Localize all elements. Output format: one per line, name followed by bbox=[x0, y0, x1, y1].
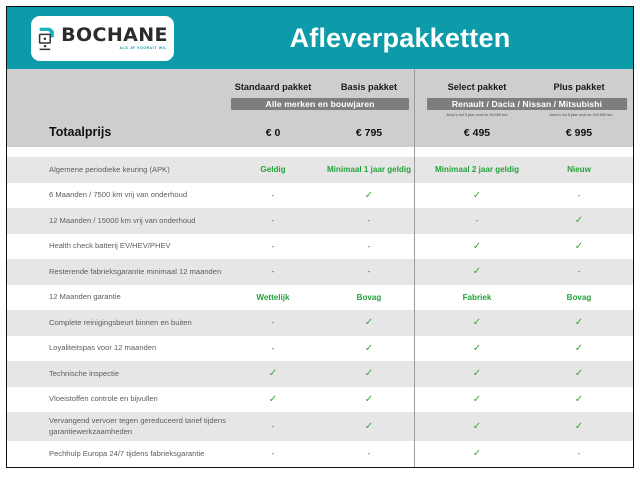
cell-plus: ✓ bbox=[529, 215, 629, 226]
group-pill-all-brands: Alle merken en bouwjaren bbox=[231, 98, 409, 110]
cell-select: ✓ bbox=[425, 394, 529, 405]
cell-select: Minimaal 2 jaar geldig bbox=[425, 165, 529, 174]
price-basis: € 795 bbox=[323, 127, 415, 139]
cell-standaard: - bbox=[223, 318, 323, 327]
row-label: 6 Maanden / 7500 km vrij van onderhoud bbox=[49, 190, 187, 201]
cell-select: ✓ bbox=[425, 343, 529, 354]
column-header-standaard: Standaard pakket bbox=[223, 82, 323, 92]
group-pill-renault-group: Renault / Dacia / Nissan / Mitsubishi bbox=[427, 98, 627, 110]
cell-plus: - bbox=[529, 191, 629, 200]
cell-standaard: - bbox=[223, 449, 323, 458]
row-label: Complete reinigingsbeurt binnen en buite… bbox=[49, 318, 192, 329]
cell-basis: ✓ bbox=[323, 368, 415, 379]
cell-standaard: - bbox=[223, 344, 323, 353]
cell-basis: Minimaal 1 jaar geldig bbox=[323, 165, 415, 174]
cell-standaard: - bbox=[223, 216, 323, 225]
row-label: 12 Maanden garantie bbox=[49, 292, 121, 303]
cell-plus: Bovag bbox=[529, 293, 629, 302]
cell-basis: ✓ bbox=[323, 343, 415, 354]
cell-plus: ✓ bbox=[529, 241, 629, 252]
cell-plus: - bbox=[529, 267, 629, 276]
cell-standaard: Geldig bbox=[223, 165, 323, 174]
cell-select: ✓ bbox=[425, 421, 529, 432]
row-label: Resterende fabrieksgarantie minimaal 12 … bbox=[49, 267, 221, 278]
cell-standaard: - bbox=[223, 242, 323, 251]
column-header-select: Select pakket bbox=[425, 82, 529, 92]
table-row: 12 Maanden / 15000 km vrij van onderhoud… bbox=[7, 208, 633, 234]
comparison-panel: BOCHANE ALS JE VOORUIT WIL Afleverpakket… bbox=[6, 6, 634, 468]
bochane-mark-icon bbox=[37, 26, 56, 51]
cell-select: ✓ bbox=[425, 368, 529, 379]
cell-standaard: - bbox=[223, 267, 323, 276]
row-label: Loyaliteitspas voor 12 maanden bbox=[49, 343, 156, 354]
cell-standaard: Wettelijk bbox=[223, 293, 323, 302]
cell-select: ✓ bbox=[425, 241, 529, 252]
cell-plus: - bbox=[529, 449, 629, 458]
row-label: Pechhulp Europa 24/7 tijdens fabrieksgar… bbox=[49, 449, 204, 460]
column-header-inner: Standaard pakket Basis pakket Select pak… bbox=[7, 69, 633, 147]
row-label: Vloeistoffen controle en bijvullen bbox=[49, 394, 158, 405]
cell-plus: ✓ bbox=[529, 317, 629, 328]
cell-select: ✓ bbox=[425, 448, 529, 459]
price-standaard: € 0 bbox=[223, 127, 323, 139]
table-row: Resterende fabrieksgarantie minimaal 12 … bbox=[7, 259, 633, 285]
cell-standaard: ✓ bbox=[223, 394, 323, 405]
column-header-plus: Plus pakket bbox=[529, 82, 629, 92]
cell-plus: ✓ bbox=[529, 343, 629, 354]
brand-tagline: ALS JE VOORUIT WIL bbox=[120, 47, 167, 51]
table-row: Vloeistoffen controle en bijvullen✓✓✓✓ bbox=[7, 387, 633, 413]
table-top-spacer bbox=[7, 147, 633, 157]
cell-select: ✓ bbox=[425, 317, 529, 328]
table-row: Complete reinigingsbeurt binnen en buite… bbox=[7, 310, 633, 336]
cell-select: ✓ bbox=[425, 266, 529, 277]
cell-plus: ✓ bbox=[529, 368, 629, 379]
cell-standaard: - bbox=[223, 422, 323, 431]
table-row: 6 Maanden / 7500 km vrij van onderhoud-✓… bbox=[7, 183, 633, 209]
cell-basis: - bbox=[323, 242, 415, 251]
totals-label: Totaalprijs bbox=[49, 125, 111, 139]
cell-basis: ✓ bbox=[323, 190, 415, 201]
group-divider bbox=[414, 69, 415, 467]
table-row: € 25,- Brandstof of volle accu-✓✓✓ bbox=[7, 467, 633, 469]
row-label: Technische inspectie bbox=[49, 369, 119, 380]
brand-name: BOCHANE bbox=[61, 26, 168, 45]
column-note-select: Auto's tot 3 jaar oud en 30.000 km bbox=[425, 113, 529, 117]
brand-wordmark: BOCHANE ALS JE VOORUIT WIL bbox=[61, 26, 168, 51]
feature-comparison-table: Algemene periodieke keuring (APK)GeldigM… bbox=[7, 147, 633, 468]
cell-standaard: - bbox=[223, 191, 323, 200]
table-row: Technische inspectie✓✓✓✓ bbox=[7, 361, 633, 387]
table-row: Pechhulp Europa 24/7 tijdens fabrieksgar… bbox=[7, 441, 633, 467]
cell-basis: - bbox=[323, 216, 415, 225]
cell-plus: Nieuw bbox=[529, 165, 629, 174]
cell-basis: ✓ bbox=[323, 394, 415, 405]
brand-logo[interactable]: BOCHANE ALS JE VOORUIT WIL bbox=[31, 16, 174, 61]
cell-select: ✓ bbox=[425, 190, 529, 201]
cell-plus: ✓ bbox=[529, 421, 629, 432]
row-label: 12 Maanden / 15000 km vrij van onderhoud bbox=[49, 216, 196, 227]
cell-basis: - bbox=[323, 449, 415, 458]
row-label: Health check batterij EV/HEV/PHEV bbox=[49, 241, 171, 252]
cell-basis: ✓ bbox=[323, 421, 415, 432]
row-label: Vervangend vervoer tegen gereduceerd tar… bbox=[49, 416, 249, 437]
cell-basis: ✓ bbox=[323, 317, 415, 328]
price-select: € 495 bbox=[425, 127, 529, 139]
cell-select: - bbox=[425, 216, 529, 225]
screenshot-root: BOCHANE ALS JE VOORUIT WIL Afleverpakket… bbox=[0, 0, 640, 480]
column-header-basis: Basis pakket bbox=[323, 82, 415, 92]
table-row: Algemene periodieke keuring (APK)GeldigM… bbox=[7, 157, 633, 183]
cell-basis: Bovag bbox=[323, 293, 415, 302]
cell-standaard: ✓ bbox=[223, 368, 323, 379]
column-note-plus: Auto's tot 5 jaar oud en 100.000 km bbox=[529, 113, 633, 117]
table-row: 12 Maanden garantieWettelijkBovagFabriek… bbox=[7, 285, 633, 311]
row-label: Algemene periodieke keuring (APK) bbox=[49, 165, 170, 176]
page-header: BOCHANE ALS JE VOORUIT WIL Afleverpakket… bbox=[7, 7, 633, 69]
column-header-band: Standaard pakket Basis pakket Select pak… bbox=[7, 69, 633, 147]
cell-basis: - bbox=[323, 267, 415, 276]
table-row: Vervangend vervoer tegen gereduceerd tar… bbox=[7, 412, 633, 441]
price-plus: € 995 bbox=[529, 127, 629, 139]
cell-select: Fabriek bbox=[425, 293, 529, 302]
table-row: Loyaliteitspas voor 12 maanden-✓✓✓ bbox=[7, 336, 633, 362]
cell-plus: ✓ bbox=[529, 394, 629, 405]
table-row: Health check batterij EV/HEV/PHEV--✓✓ bbox=[7, 234, 633, 260]
